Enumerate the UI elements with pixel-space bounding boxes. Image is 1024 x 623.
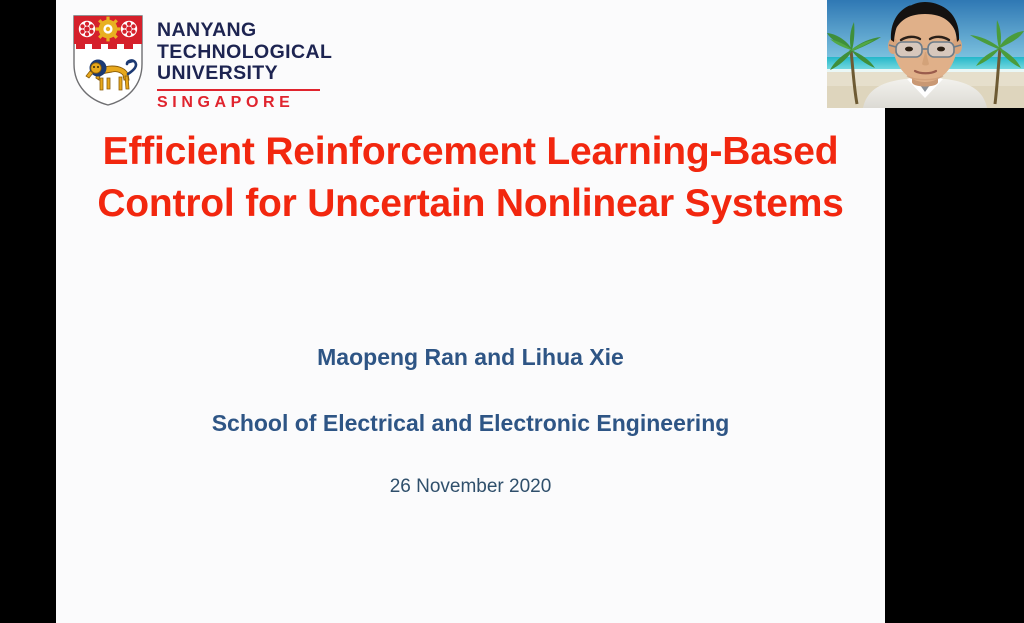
webcam-video-frame <box>827 0 1024 108</box>
slide-authors: Maopeng Ran and Lihua Xie <box>56 344 885 371</box>
wordmark-line-technological: TECHNOLOGICAL <box>157 42 332 64</box>
slide-canvas: NANYANG TECHNOLOGICAL UNIVERSITY SINGAPO… <box>56 0 885 623</box>
wordmark-line-singapore: SINGAPORE <box>157 94 332 112</box>
presentation-viewer: NANYANG TECHNOLOGICAL UNIVERSITY SINGAPO… <box>0 0 1024 623</box>
speaker-webcam-tile[interactable] <box>827 0 1024 108</box>
wordmark-divider-rule <box>157 89 320 92</box>
ntu-shield-icon <box>72 14 144 107</box>
slide-title: Efficient Reinforcement Learning-Based C… <box>56 126 885 230</box>
ntu-logo: NANYANG TECHNOLOGICAL UNIVERSITY SINGAPO… <box>72 14 332 112</box>
slide-date: 26 November 2020 <box>56 476 885 498</box>
ntu-wordmark: NANYANG TECHNOLOGICAL UNIVERSITY SINGAPO… <box>157 14 332 112</box>
wordmark-line-university: UNIVERSITY <box>157 63 332 85</box>
slide-affiliation: School of Electrical and Electronic Engi… <box>56 410 885 437</box>
wordmark-line-nanyang: NANYANG <box>157 20 332 42</box>
